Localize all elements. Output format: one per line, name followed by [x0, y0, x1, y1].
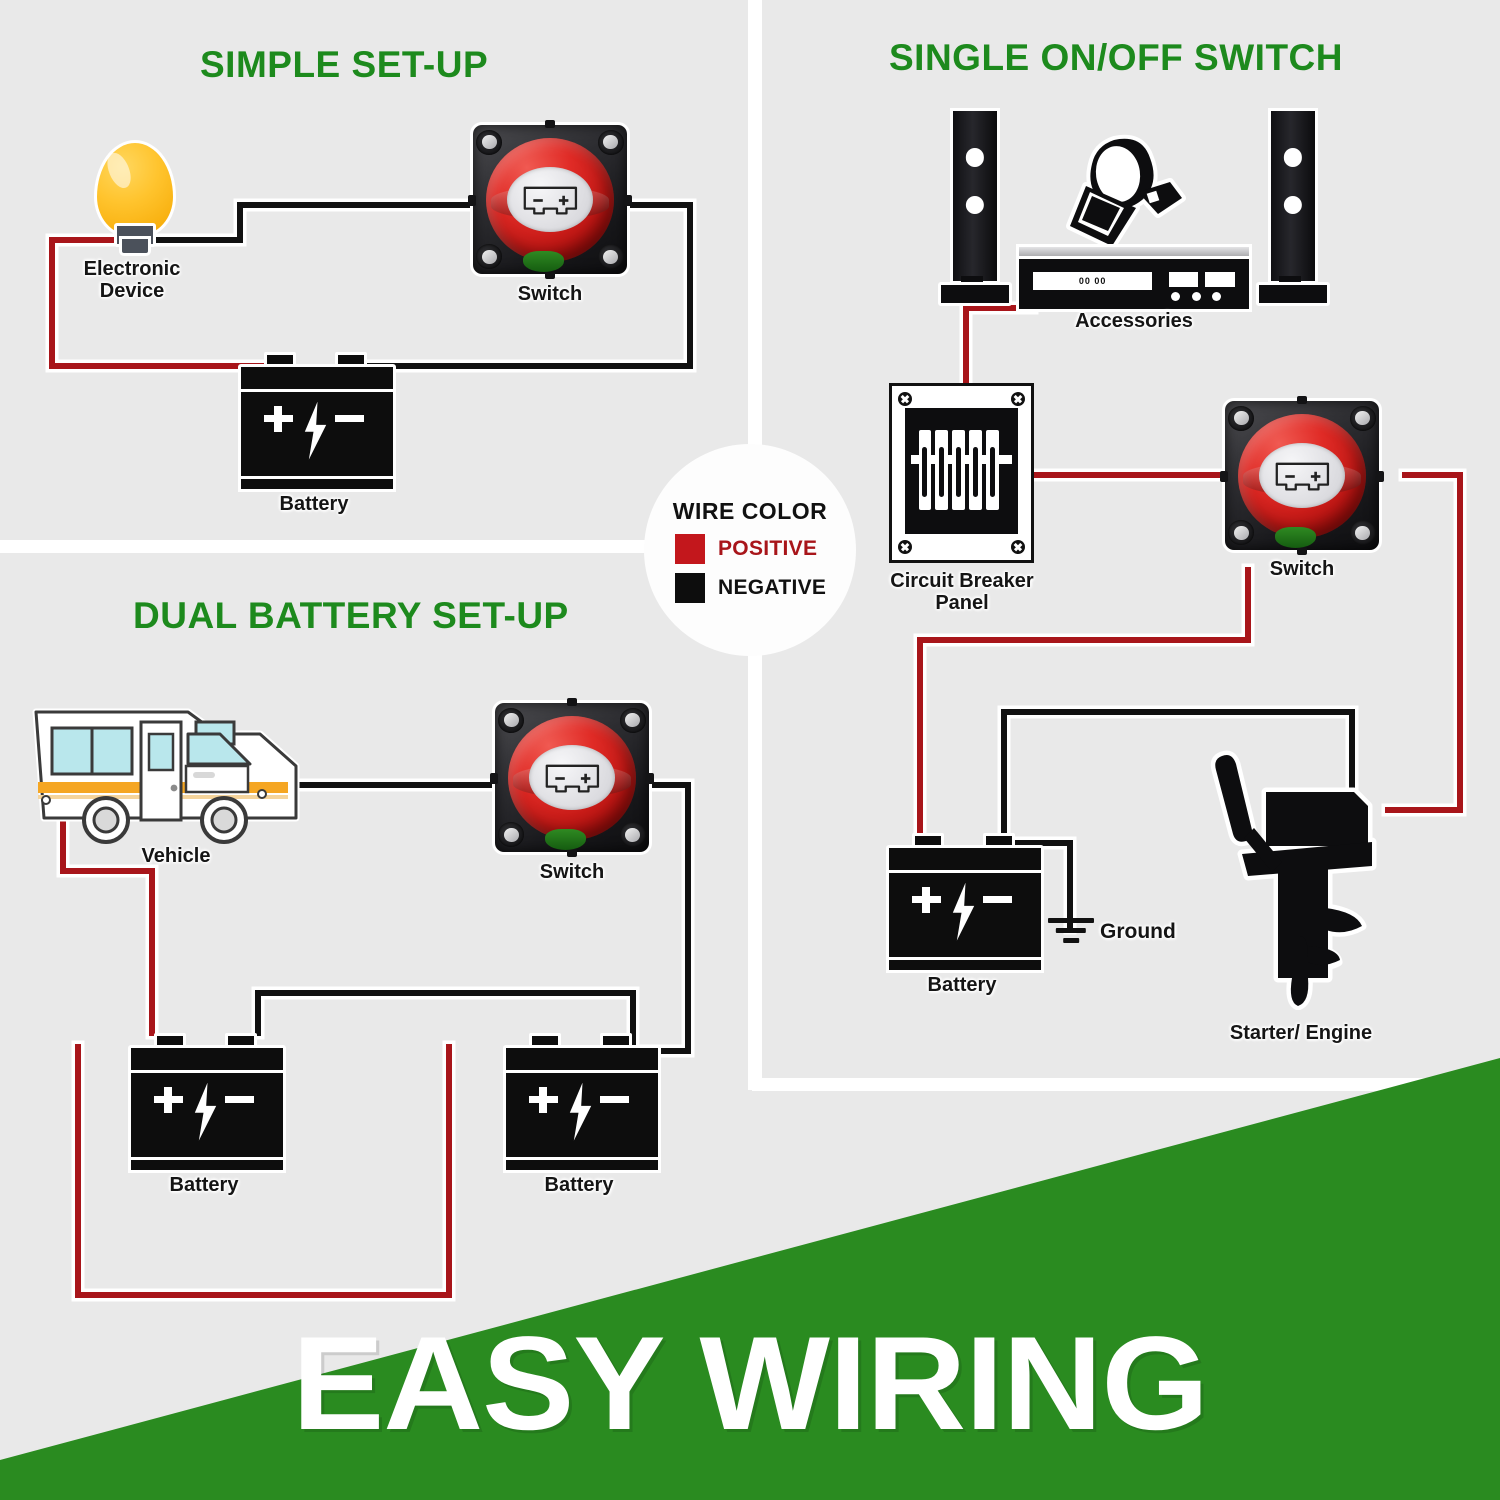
legend-title: WIRE COLOR: [673, 498, 828, 525]
label-switch-simple: Switch: [470, 283, 630, 305]
breaker-switch[interactable]: [952, 430, 964, 511]
battery-base: [238, 476, 396, 492]
label-vehicle: Vehicle: [96, 845, 256, 867]
switch-nub-top: [567, 698, 577, 706]
banner-headline: EASY WIRING: [0, 1308, 1500, 1460]
battery-terminals-icon: [1273, 455, 1332, 495]
wiring-diagram-infographic: SIMPLE SET-UP DUAL BATTERY SET-UP SINGLE…: [0, 0, 1500, 1500]
screw-icon: [898, 540, 912, 554]
switch-nub-bottom: [1297, 547, 1307, 555]
label-ground: Ground: [1100, 920, 1210, 944]
switch-terminal-left: [1220, 471, 1228, 482]
label-switch-single: Switch: [1222, 558, 1382, 580]
switch-battery-label-plate: [1259, 443, 1345, 508]
ground-symbol-icon: [1048, 918, 1094, 948]
switch-terminal-right: [1376, 471, 1384, 482]
panel-divider-horizontal-left: [0, 540, 752, 553]
screw-icon: [620, 708, 646, 733]
speaker-driver: [966, 196, 984, 214]
legend-label-negative: NEGATIVE: [718, 576, 826, 600]
legend-label-positive: POSITIVE: [718, 537, 817, 561]
battery-disconnect-switch-single[interactable]: [1222, 398, 1382, 553]
speaker-foot: [1256, 282, 1330, 306]
speaker-column: [1268, 108, 1318, 284]
speaker-driver: [1284, 196, 1302, 214]
breaker-inner: [905, 408, 1018, 534]
switch-nub-bottom: [545, 271, 555, 279]
speaker-driver: [966, 148, 984, 166]
speaker-column: [950, 108, 1000, 284]
bulb-cap-lower: [119, 236, 151, 255]
screw-icon: [476, 130, 502, 155]
speaker-foot: [938, 282, 1012, 306]
switch-battery-label-plate: [529, 745, 615, 810]
wire-color-legend: WIRE COLOR POSITIVE NEGATIVE: [644, 444, 856, 656]
receiver-display: 00 00: [1033, 272, 1153, 290]
av-receiver-icon: 00 00: [1016, 244, 1246, 306]
legend-item-positive: POSITIVE: [675, 534, 825, 564]
switch-terminal-right: [624, 195, 632, 206]
screw-icon: [498, 708, 524, 733]
label-battery-single: Battery: [886, 974, 1038, 996]
legend-swatch-negative: [675, 573, 705, 603]
switch-battery-label-plate: [507, 167, 593, 232]
circuit-breaker-panel-icon: [889, 383, 1034, 563]
battery-terminals-icon: [543, 757, 602, 797]
switch-nub-top: [545, 120, 555, 128]
screw-icon: [598, 130, 624, 155]
switch-terminal-right: [646, 773, 654, 784]
battery-icon-simple: [238, 352, 390, 490]
receiver-panel-right: [1205, 272, 1235, 287]
label-accessories: Accessories: [1046, 310, 1222, 332]
legend-swatch-positive: [675, 534, 705, 564]
battery-disconnect-switch-simple[interactable]: [470, 122, 630, 277]
screw-icon: [620, 822, 646, 847]
battery-base: [886, 957, 1044, 973]
switch-terminal-left: [468, 195, 476, 206]
breaker-switch[interactable]: [969, 430, 981, 511]
legend-item-negative: NEGATIVE: [675, 573, 825, 603]
battery-icon-single: [886, 833, 1038, 971]
receiver-knob: [1192, 292, 1201, 301]
label-switch-dual: Switch: [492, 861, 652, 883]
switch-terminal-left: [490, 773, 498, 784]
screw-icon: [598, 244, 624, 269]
screw-icon: [898, 392, 912, 406]
receiver-knob: [1212, 292, 1221, 301]
screw-icon: [1011, 540, 1025, 554]
breaker-switch[interactable]: [935, 430, 947, 511]
spotlight-icon: [1062, 134, 1190, 252]
receiver-chassis: 00 00: [1016, 256, 1252, 312]
receiver-panel-left: [1169, 272, 1199, 287]
switch-nub-bottom: [567, 849, 577, 857]
screw-icon: [1228, 406, 1254, 431]
screw-icon: [1011, 392, 1025, 406]
light-bulb-icon: [94, 140, 170, 252]
label-electronic-device: Electronic Device: [52, 258, 212, 303]
breaker-switch[interactable]: [986, 430, 998, 511]
label-battery-simple: Battery: [238, 493, 390, 515]
battery-terminals-icon: [521, 179, 580, 219]
screw-icon: [1350, 406, 1376, 431]
speaker-tower-right-icon: [1256, 108, 1324, 306]
breaker-switch[interactable]: [919, 430, 931, 511]
receiver-knob: [1171, 292, 1180, 301]
battery-disconnect-switch-dual[interactable]: [492, 700, 652, 855]
switch-nub-top: [1297, 396, 1307, 404]
rv-vehicle-icon: [28, 700, 318, 852]
screw-icon: [1350, 520, 1376, 545]
outboard-engine-icon: [1196, 750, 1396, 1010]
speaker-tower-left-icon: [938, 108, 1006, 306]
label-circuit-breaker-panel: Circuit Breaker Panel: [879, 570, 1045, 615]
speaker-driver: [1284, 148, 1302, 166]
